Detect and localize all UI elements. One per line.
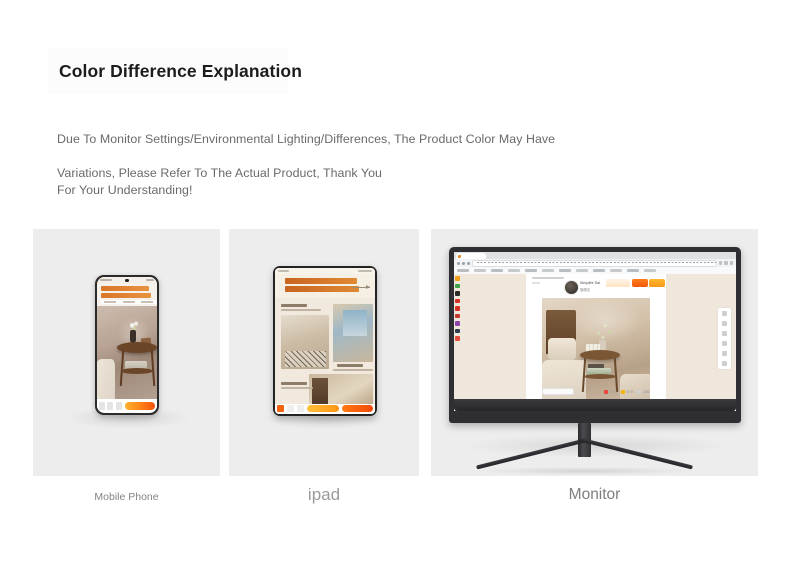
tablet-bottom-bar [275,404,375,414]
tablet-section2-label [337,364,363,367]
comment-icon [637,390,641,394]
shop-name: Simplife Sal [580,281,600,285]
monitor-device: Simplife Sal 旗舰店 [449,247,741,423]
caption-monitor: Monitor [431,486,758,504]
tablet-content [275,298,375,403]
phone-buy-button[interactable] [125,402,156,410]
product-action-row: 4.7万 8239 2680 [542,388,650,395]
strip-icon-7[interactable] [455,321,460,326]
bookmark-item[interactable] [627,269,639,272]
url-input[interactable] [472,260,717,267]
tablet-headline-line1 [285,278,357,284]
product-card-header: Simplife Sal 旗舰店 [526,274,666,296]
profile-icon[interactable] [724,261,727,264]
shop-subtitle: 旗舰店 [580,287,590,292]
tablet-section1-sub [281,309,321,311]
description-line-2: Variations, Please Refer To The Actual P… [57,166,697,180]
bookmark-item[interactable] [542,269,554,272]
browser-bookmarks-bar[interactable] [454,267,736,274]
bookmark-item[interactable] [474,269,486,272]
tablet-headline-area [275,274,375,298]
favorite-stat[interactable]: 8239 [621,390,634,394]
star-icon [621,390,625,394]
phone-photo-table-leg [150,350,155,386]
product-card: Simplife Sal 旗舰店 [526,274,666,399]
warn-icon[interactable] [722,351,727,356]
strip-icon-6[interactable] [455,314,460,319]
phone-tab-bar[interactable] [101,300,157,305]
tablet-buy-now-button[interactable] [342,405,373,412]
phone-headline-line1 [101,286,149,291]
like-count: 4.7万 [609,389,617,394]
back-icon[interactable] [457,262,460,265]
bookmark-item[interactable] [644,269,656,272]
shop-nav-left[interactable] [532,277,564,279]
more-icon[interactable] [722,361,727,366]
strip-icon-8[interactable] [455,329,460,334]
forward-icon[interactable] [462,262,465,265]
tablet-image-living-room [281,315,329,369]
monitor-chin [454,399,736,411]
browser-page-content: Simplife Sal 旗舰店 [454,274,736,399]
bookmark-item[interactable] [593,269,605,272]
phone-photo-bed [97,359,115,399]
tablet-image-balcony [333,304,373,362]
caption-mobile-phone: Mobile Phone [33,491,220,503]
bookmark-item[interactable] [610,269,622,272]
extension-icon[interactable] [719,261,722,264]
tablet-headline-line2 [285,286,359,292]
tablet-favorite-icon[interactable] [297,405,304,412]
strip-icon-3[interactable] [455,291,460,296]
photo-shelf [584,374,616,379]
phone-headline-line2 [101,293,151,298]
phone-status-right [146,279,154,282]
strip-icon-4[interactable] [455,299,460,304]
description-line-3: For Your Understanding! [57,183,697,197]
tablet-device [273,266,377,416]
monitor-base-shadow [475,467,695,475]
phone-tab-3[interactable] [141,301,153,303]
phone-product-photo [97,306,158,400]
comment-stat[interactable]: 2680 [637,390,650,394]
phone-tab-2[interactable] [123,301,135,303]
reload-icon[interactable] [467,262,470,265]
strip-icon-1[interactable] [455,276,460,281]
photo-branches [592,320,616,342]
phone-photo-shelf [121,368,153,374]
monitor-drop-shadow [467,435,723,457]
phone-screen [97,277,158,414]
shop-avatar[interactable] [564,280,579,295]
browser-tab-bar[interactable] [454,252,736,259]
photo-sofa [620,374,650,400]
comment-count: 2680 [643,390,650,394]
phone-device [95,275,159,415]
product-photo [542,298,650,400]
list-icon[interactable] [722,341,727,346]
tablet-service-icon[interactable] [287,405,294,412]
phone-bottom-bar [97,399,158,413]
description-block: Due To Monitor Settings/Environmental Li… [57,132,697,197]
bookmark-item[interactable] [457,269,469,272]
device-panels: Simplife Sal 旗舰店 [33,229,758,476]
panel-monitor: Simplife Sal 旗舰店 [431,229,758,476]
promo-coupon-badge[interactable] [606,279,630,287]
add-to-cart-button[interactable] [649,279,665,287]
phone-photo-vase [130,330,136,343]
tablet-status-right [358,270,372,272]
phone-cart-icon[interactable] [116,402,122,410]
tablet-shop-icon[interactable] [277,405,284,412]
browser-favicon-icon [458,255,461,258]
tablet-add-to-cart-button[interactable] [307,405,338,412]
bookmark-item[interactable] [491,269,503,272]
phone-bottom-icons[interactable] [99,402,122,410]
bookmark-item[interactable] [525,269,537,272]
tablet-screen [275,268,375,413]
panel-mobile-phone [33,229,220,476]
menu-icon[interactable] [730,261,733,264]
strip-icon-5[interactable] [455,306,460,311]
contact-service-button[interactable] [542,388,574,395]
arrow-right-icon [352,287,370,288]
bookmark-item[interactable] [576,269,588,272]
phone-tab-1[interactable] [104,301,116,303]
caption-ipad: ipad [229,485,419,505]
heart-icon [604,390,608,394]
tablet-section3-label [281,382,307,385]
favorite-count: 8239 [626,390,633,394]
page-left-icon-strip[interactable] [454,274,461,399]
page-title: Color Difference Explanation [59,61,302,82]
browser-address-bar[interactable] [454,259,736,267]
tablet-status-left [278,270,289,272]
phone-headline-area [97,284,158,306]
tablet-section2-sub [333,369,373,371]
phone-photo-table-leg [119,350,124,386]
buy-now-button[interactable] [632,279,648,287]
strip-icon-2[interactable] [455,284,460,289]
store-icon[interactable] [722,311,727,316]
bookmark-item[interactable] [508,269,520,272]
chat-icon[interactable] [722,321,727,326]
phone-status-left [100,279,112,282]
cart-icon[interactable] [722,331,727,336]
tablet-section1-label [281,304,307,307]
bookmark-item[interactable] [559,269,571,272]
page-right-rail[interactable] [718,308,731,369]
photo-pillow [548,338,576,360]
panel-ipad [229,229,419,476]
strip-icon-9[interactable] [455,336,460,341]
description-line-1: Due To Monitor Settings/Environmental Li… [57,132,697,146]
monitor-screen: Simplife Sal 旗舰店 [454,252,736,411]
phone-home-icon[interactable] [99,402,105,410]
like-stat[interactable]: 4.7万 [604,389,617,394]
tablet-section3-sub [281,387,313,389]
shop-nav-left-secondary[interactable] [532,282,540,284]
phone-chat-icon[interactable] [107,402,113,410]
